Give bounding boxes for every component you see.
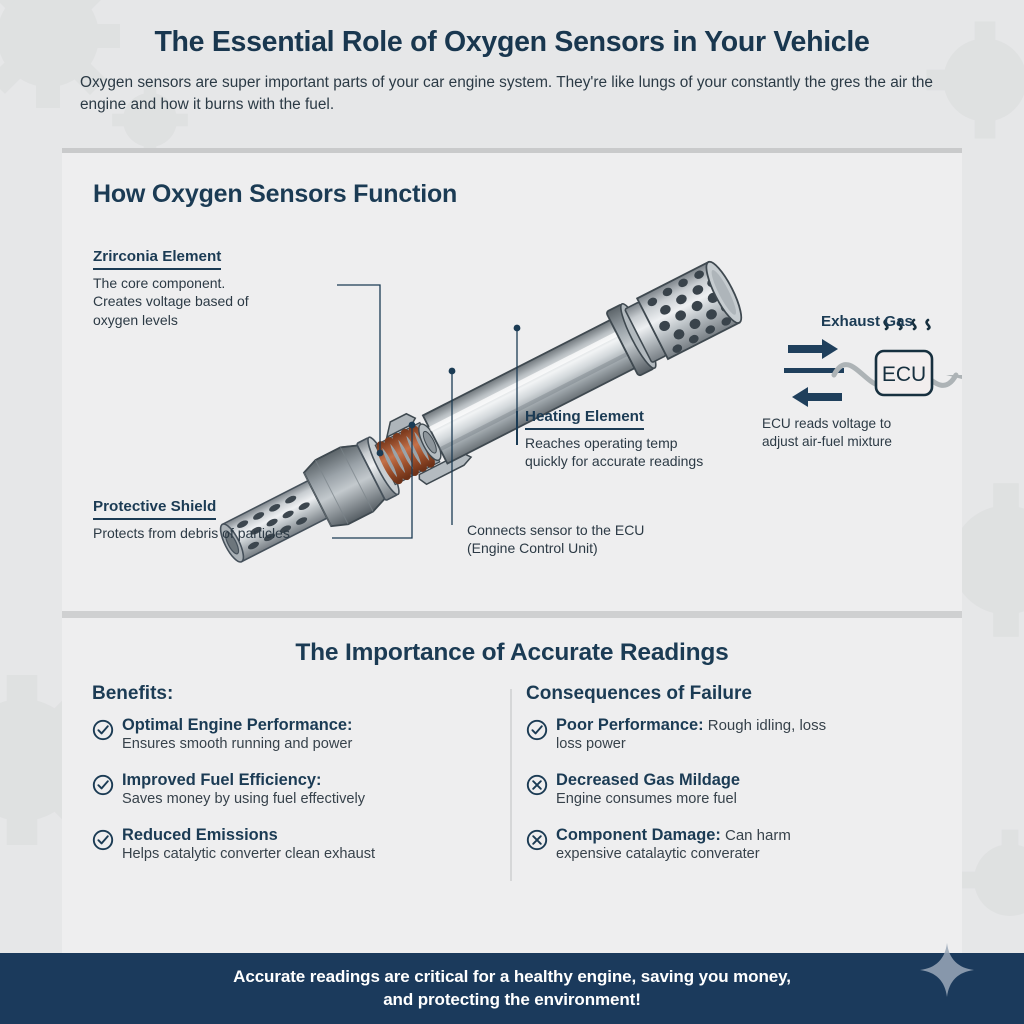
benefit-desc: Helps catalytic converter clean exhaust [122,845,498,864]
benefit-title: Improved Fuel Efficiency: [122,771,321,789]
consequence-desc: Engine consumes more fuel [556,790,932,809]
callout-shield-body: Protects from debris of particles [93,524,423,542]
consequence-title: Decreased Gas Mildage [556,771,740,789]
callout-heating-element: Heating Element Reaches operating temp q… [525,408,775,471]
benefit-title: Optimal Engine Performance: [122,716,352,734]
exhaust-flow-graphic: ECU [784,320,962,407]
callout-zirconia-element: Zrirconia Element The core component. Cr… [93,248,368,329]
section-divider [62,611,962,618]
exhaust-gas-label: Exhaust Gas [777,313,957,330]
page-subtitle: Oxygen sensors are super important parts… [80,72,944,116]
footer-line-1: Accurate readings are critical for a hea… [233,966,791,989]
x-circle-icon [526,826,556,864]
list-item: Poor Performance: Rough idling, loss los… [526,716,932,754]
consequences-column: Consequences of Failure Poor Performance… [526,683,932,881]
consequence-title-rest: Rough idling, loss [704,717,827,734]
callout-shield-heading: Protective Shield [93,498,216,520]
consequence-desc: expensive catalaytic converater [556,845,932,864]
ecu-caption: ECU reads voltage to adjust air-fuel mix… [762,415,962,451]
consequence-title: Component Damage: [556,826,721,844]
list-item: Component Damage: Can harm expensive cat… [526,826,932,864]
callout-zirconia-heading: Zrirconia Element [93,248,221,270]
column-divider [510,689,512,881]
callout-connector-body: Connects sensor to the ECU (Engine Contr… [467,521,727,558]
footer-message: Accurate readings are critical for a hea… [233,966,791,1011]
benefits-heading: Benefits: [92,683,498,705]
check-circle-icon [526,716,556,754]
panel-top-border [62,148,962,153]
callout-heating-body: Reaches operating temp quickly for accur… [525,434,775,471]
list-item: Reduced Emissions Helps catalytic conver… [92,826,498,864]
callout-heating-heading: Heating Element [525,408,644,430]
callout-connector-note: Connects sensor to the ECU (Engine Contr… [467,521,727,558]
consequence-title: Poor Performance: [556,716,704,734]
consequences-heading: Consequences of Failure [526,683,932,705]
benefit-desc: Ensures smooth running and power [122,735,498,754]
importance-title: The Importance of Accurate Readings [62,618,962,667]
ecu-box-label: ECU [882,363,926,386]
callout-zirconia-body: The core component. Creates voltage base… [93,274,368,329]
consequence-desc: loss power [556,735,932,754]
callout-protective-shield: Protective Shield Protects from debris o… [93,498,423,542]
page-title: The Essential Role of Oxygen Sensors in … [0,0,1024,59]
check-circle-icon [92,716,122,754]
x-circle-icon [526,771,556,809]
header: The Essential Role of Oxygen Sensors in … [0,0,1024,148]
list-item: Optimal Engine Performance: Ensures smoo… [92,716,498,754]
footer-line-2: and protecting the environment! [233,989,791,1012]
list-item: Improved Fuel Efficiency: Saves money by… [92,771,498,809]
sparkle-icon [918,941,976,999]
footer-banner: Accurate readings are critical for a hea… [0,953,1024,1024]
benefit-title: Reduced Emissions [122,826,278,844]
benefit-desc: Saves money by using fuel effectively [122,790,498,809]
consequence-title-rest: Can harm [721,827,791,844]
check-circle-icon [92,771,122,809]
list-item: Decreased Gas Mildage Engine consumes mo… [526,771,932,809]
diagram-section: How Oxygen Sensors Function [62,153,962,611]
benefits-column: Benefits: Optimal Engine Performance: En… [92,683,498,881]
check-circle-icon [92,826,122,864]
importance-section: The Importance of Accurate Readings Bene… [62,618,962,953]
